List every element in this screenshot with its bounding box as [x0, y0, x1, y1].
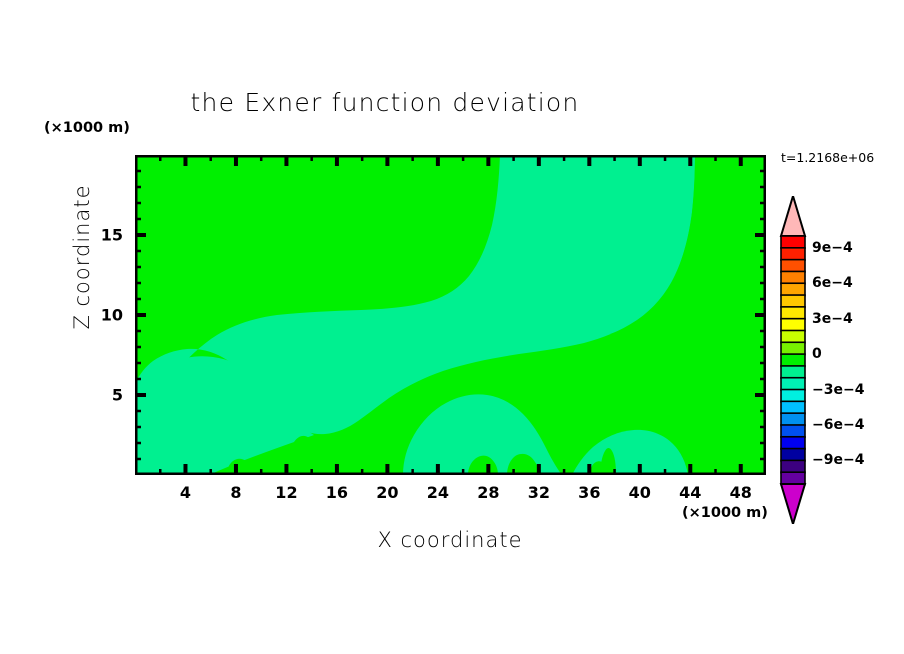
colorbar-cells	[781, 196, 805, 524]
x-tick-label: 16	[326, 483, 348, 502]
colorbar-tick-label: −9e−4	[812, 452, 864, 468]
y-tick-label: 15	[89, 226, 123, 245]
colorbar-cell	[781, 401, 805, 413]
y-axis-title: Z coordinate	[70, 157, 94, 357]
colorbar-cell	[781, 354, 805, 366]
contour-plot-page: the Exner function deviation t=1.2168e+0…	[0, 0, 904, 654]
x-tick-label: 20	[376, 483, 398, 502]
colorbar-cell	[781, 260, 805, 272]
colorbar-cell	[781, 378, 805, 390]
colorbar-tick-label: −3e−4	[812, 382, 864, 398]
colorbar-cell	[781, 366, 805, 378]
x-axis-unit-label: (×1000 m)	[682, 505, 768, 521]
colorbar-cell	[781, 342, 805, 354]
x-tick-label: 8	[230, 483, 241, 502]
colorbar-cell	[781, 330, 805, 342]
contour-field	[135, 155, 766, 475]
plot-area	[135, 155, 766, 475]
contour-bands	[135, 155, 766, 475]
x-tick-label: 48	[730, 483, 752, 502]
colorbar-swatches	[778, 196, 808, 524]
colorbar-cell	[781, 319, 805, 331]
x-axis-title: X coordinate	[0, 528, 900, 552]
page-title: the Exner function deviation	[0, 88, 770, 117]
colorbar-cell	[781, 295, 805, 307]
x-tick-label: 32	[528, 483, 550, 502]
colorbar-cell	[781, 425, 805, 437]
colorbar-tick-label: 6e−4	[812, 275, 853, 291]
x-tick-label: 44	[679, 483, 701, 502]
colorbar-cell	[781, 472, 805, 484]
colorbar-cell	[781, 271, 805, 283]
y-axis-unit-label: (×1000 m)	[44, 120, 130, 136]
colorbar-cell	[781, 283, 805, 295]
x-tick-label: 28	[477, 483, 499, 502]
colorbar-cell	[781, 236, 805, 248]
x-tick-label: 12	[275, 483, 297, 502]
colorbar-tick-label: 9e−4	[812, 240, 853, 256]
x-tick-label: 24	[427, 483, 449, 502]
colorbar-cell	[781, 413, 805, 425]
x-tick-label: 40	[629, 483, 651, 502]
colorbar-tick-label: 0	[812, 346, 822, 362]
colorbar-tick-label: −6e−4	[812, 417, 864, 433]
colorbar-cell	[781, 390, 805, 402]
colorbar-cell	[781, 437, 805, 449]
colorbar-cell	[781, 307, 805, 319]
colorbar-cell	[781, 460, 805, 472]
x-tick-label: 36	[578, 483, 600, 502]
time-stamp: t=1.2168e+06	[781, 150, 874, 165]
y-tick-label: 5	[89, 386, 123, 405]
colorbar-under-cap	[781, 484, 805, 524]
colorbar-tick-label: 3e−4	[812, 311, 853, 327]
x-tick-label: 4	[180, 483, 191, 502]
colorbar-cell	[781, 248, 805, 260]
colorbar-cell	[781, 449, 805, 461]
y-tick-label: 10	[89, 306, 123, 325]
colorbar-over-cap	[781, 196, 805, 236]
colorbar	[778, 196, 808, 524]
